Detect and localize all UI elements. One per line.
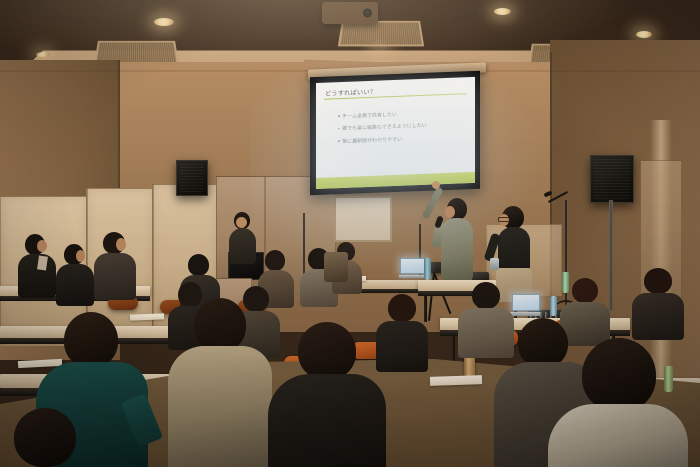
audience-foreground-white-shirt bbox=[548, 338, 688, 467]
projection-screen: どうすればいい？ チーム全員で共有したい 誰でも楽に編集もできるようにしたい 常… bbox=[310, 71, 480, 196]
audience-foreground-beige bbox=[168, 298, 272, 467]
audience-head bbox=[472, 282, 500, 309]
slide-bullet-text: チーム全員で共有したい bbox=[342, 111, 397, 120]
whiteboard-panel bbox=[334, 196, 392, 242]
audience-face bbox=[37, 240, 47, 252]
presenter-standing bbox=[432, 182, 478, 292]
operator-face bbox=[236, 217, 247, 228]
audience-head bbox=[644, 268, 672, 294]
audience-head bbox=[572, 278, 598, 303]
laptop-screen bbox=[400, 258, 426, 274]
audience-head bbox=[298, 322, 356, 380]
slide-bullet-text: 誰でも楽に編集もできるようにしたい bbox=[342, 122, 427, 132]
downlight-5 bbox=[36, 52, 49, 57]
audience-torso bbox=[56, 264, 94, 306]
presenter-torso bbox=[498, 227, 530, 271]
audience-torso bbox=[632, 293, 684, 340]
downlight-1 bbox=[154, 18, 174, 26]
audience-torso bbox=[18, 254, 56, 298]
audience-member bbox=[18, 234, 56, 298]
audience-head bbox=[582, 338, 656, 412]
laptop-screen bbox=[512, 294, 540, 311]
av-operator bbox=[228, 212, 258, 266]
cabinet-seam-2 bbox=[152, 184, 154, 330]
water-bottle-3 bbox=[550, 296, 557, 316]
audience-head bbox=[412, 406, 476, 467]
projector-lens bbox=[363, 9, 372, 18]
audience-foreground-bottom-mid bbox=[396, 396, 492, 467]
notebook-open bbox=[430, 375, 482, 386]
audience-torso bbox=[268, 374, 386, 467]
slide-surface: どうすればいい？ チーム全員で共有したい 誰でも楽に編集もできるようにしたい 常… bbox=[316, 77, 475, 189]
audience-head bbox=[14, 408, 76, 467]
audience-foreground-dark bbox=[268, 322, 386, 467]
operator-torso bbox=[229, 228, 256, 264]
laptop-audience-center[interactable] bbox=[512, 294, 538, 316]
ceiling-vent-2 bbox=[338, 21, 424, 47]
presenter-face bbox=[445, 206, 455, 218]
audience-head bbox=[64, 312, 118, 368]
wall-speaker-right bbox=[590, 155, 634, 203]
water-bottle-1 bbox=[424, 258, 431, 280]
bullet-dot-icon bbox=[338, 128, 340, 130]
laptop-base bbox=[399, 275, 426, 278]
slide-bullet-text: 常に最新版がわかりやすい bbox=[342, 136, 402, 145]
glasses-icon bbox=[498, 217, 511, 222]
audience-head bbox=[188, 254, 209, 276]
audience-member bbox=[56, 244, 94, 306]
slide-bullet-list: チーム全員で共有したい 誰でも楽に編集もできるようにしたい 常に最新版がわかりや… bbox=[338, 108, 469, 150]
slide-bullet-item: チーム全員で共有したい bbox=[338, 108, 469, 120]
audience-foreground-bottom-left bbox=[0, 400, 92, 467]
slide-bullet-item: 誰でも楽に編集もできるようにしたい bbox=[338, 121, 469, 133]
seminar-room-photo: どうすればいい？ チーム全員で共有したい 誰でも楽に編集もできるようにしたい 常… bbox=[0, 0, 700, 467]
bullet-dot-icon bbox=[338, 140, 340, 142]
audience-torso bbox=[168, 346, 272, 467]
laptop-base bbox=[510, 312, 539, 316]
audience-torso bbox=[94, 253, 136, 300]
presenter-torso bbox=[441, 218, 473, 280]
shirt-collar bbox=[37, 255, 48, 270]
bullet-dot-icon bbox=[338, 116, 340, 118]
shoulder-bag bbox=[324, 252, 348, 282]
presenter-hand bbox=[432, 181, 440, 189]
audience-head bbox=[194, 298, 246, 352]
downlight-3 bbox=[494, 8, 511, 15]
audience-member bbox=[94, 232, 136, 300]
audience-head bbox=[265, 250, 285, 271]
slide-bullet-item: 常に最新版がわかりやすい bbox=[338, 133, 469, 145]
audience-face bbox=[76, 250, 85, 262]
held-cup bbox=[490, 258, 499, 270]
audience-face bbox=[116, 238, 126, 251]
laptop-presenter[interactable] bbox=[400, 258, 424, 278]
audience-torso bbox=[548, 404, 688, 467]
downlight-4 bbox=[636, 31, 652, 38]
audience-head bbox=[388, 294, 416, 322]
audience-member bbox=[632, 268, 684, 340]
ceiling-projector bbox=[322, 2, 378, 24]
wall-speaker-left bbox=[176, 160, 208, 196]
